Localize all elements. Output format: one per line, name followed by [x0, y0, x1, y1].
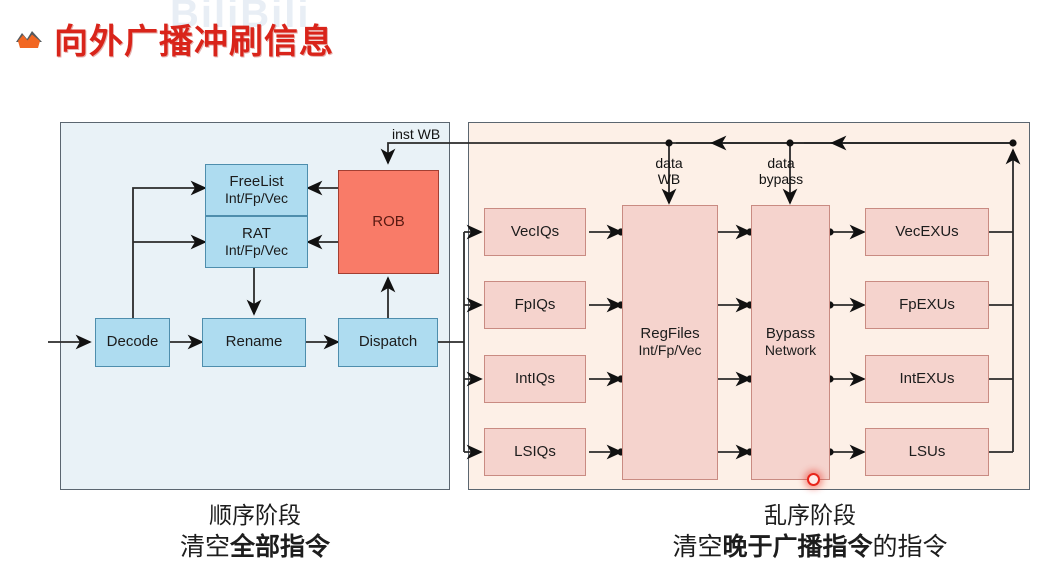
- node-fpexus-label: FpEXUs: [899, 297, 955, 314]
- node-bypass-network[interactable]: Bypass Network: [751, 205, 830, 480]
- caption-out-of-order-prefix: 清空: [672, 532, 722, 561]
- node-rename-label: Rename: [226, 334, 283, 351]
- node-veciqs-label: VecIQs: [511, 224, 559, 241]
- node-lsus[interactable]: LSUs: [865, 428, 989, 476]
- node-rob-label: ROB: [372, 214, 405, 231]
- node-rat-label: RAT: [242, 226, 271, 243]
- node-regfiles-label: RegFiles: [640, 326, 699, 343]
- node-regfiles-sublabel: Int/Fp/Vec: [638, 343, 701, 359]
- node-lsiqs-label: LSIQs: [514, 444, 556, 461]
- caption-in-order-line2: 清空全部指令: [120, 531, 390, 562]
- label-inst-wb: inst WB: [392, 126, 440, 142]
- node-intiqs[interactable]: IntIQs: [484, 355, 586, 403]
- node-vecexus[interactable]: VecEXUs: [865, 208, 989, 256]
- node-rob[interactable]: ROB: [338, 170, 439, 274]
- node-dispatch-label: Dispatch: [359, 334, 417, 351]
- node-dispatch[interactable]: Dispatch: [338, 318, 438, 367]
- node-bypass-sublabel: Network: [765, 343, 816, 359]
- node-intexus-label: IntEXUs: [899, 371, 954, 388]
- node-intiqs-label: IntIQs: [515, 371, 555, 388]
- caption-out-of-order-bold: 晚于广播指令: [722, 532, 872, 561]
- node-decode[interactable]: Decode: [95, 318, 170, 367]
- caption-in-order-line1: 顺序阶段: [120, 502, 390, 531]
- label-data-wb-line1: data: [625, 155, 713, 171]
- caption-out-of-order-line2: 清空晚于广播指令的指令: [600, 531, 1020, 562]
- label-data-bypass: data bypass: [737, 155, 825, 187]
- node-vecexus-label: VecEXUs: [895, 224, 958, 241]
- node-regfiles[interactable]: RegFiles Int/Fp/Vec: [622, 205, 718, 480]
- node-decode-label: Decode: [107, 334, 159, 351]
- label-data-wb: data WB: [625, 155, 713, 187]
- node-lsus-label: LSUs: [909, 444, 946, 461]
- label-data-wb-line2: WB: [625, 171, 713, 187]
- label-data-bypass-line1: data: [737, 155, 825, 171]
- caption-out-of-order: 乱序阶段 清空晚于广播指令的指令: [600, 502, 1020, 562]
- caption-out-of-order-line1: 乱序阶段: [600, 502, 1020, 531]
- node-bypass-label: Bypass: [766, 326, 815, 343]
- node-rat-sublabel: Int/Fp/Vec: [225, 243, 288, 259]
- red-cursor-dot: [807, 473, 820, 486]
- architecture-diagram: FreeList Int/Fp/Vec RAT Int/Fp/Vec ROB D…: [0, 0, 1045, 581]
- node-freelist-label: FreeList: [229, 174, 283, 191]
- label-data-bypass-line2: bypass: [737, 171, 825, 187]
- node-veciqs[interactable]: VecIQs: [484, 208, 586, 256]
- node-fpexus[interactable]: FpEXUs: [865, 281, 989, 329]
- node-freelist-sublabel: Int/Fp/Vec: [225, 191, 288, 207]
- node-lsiqs[interactable]: LSIQs: [484, 428, 586, 476]
- caption-out-of-order-suffix: 的指令: [873, 532, 948, 561]
- caption-in-order: 顺序阶段 清空全部指令: [120, 502, 390, 562]
- node-rat[interactable]: RAT Int/Fp/Vec: [205, 216, 308, 268]
- node-fpiqs-label: FpIQs: [515, 297, 556, 314]
- caption-in-order-prefix: 清空: [180, 532, 230, 561]
- node-intexus[interactable]: IntEXUs: [865, 355, 989, 403]
- node-fpiqs[interactable]: FpIQs: [484, 281, 586, 329]
- caption-in-order-bold: 全部指令: [230, 532, 330, 561]
- node-rename[interactable]: Rename: [202, 318, 306, 367]
- node-freelist[interactable]: FreeList Int/Fp/Vec: [205, 164, 308, 216]
